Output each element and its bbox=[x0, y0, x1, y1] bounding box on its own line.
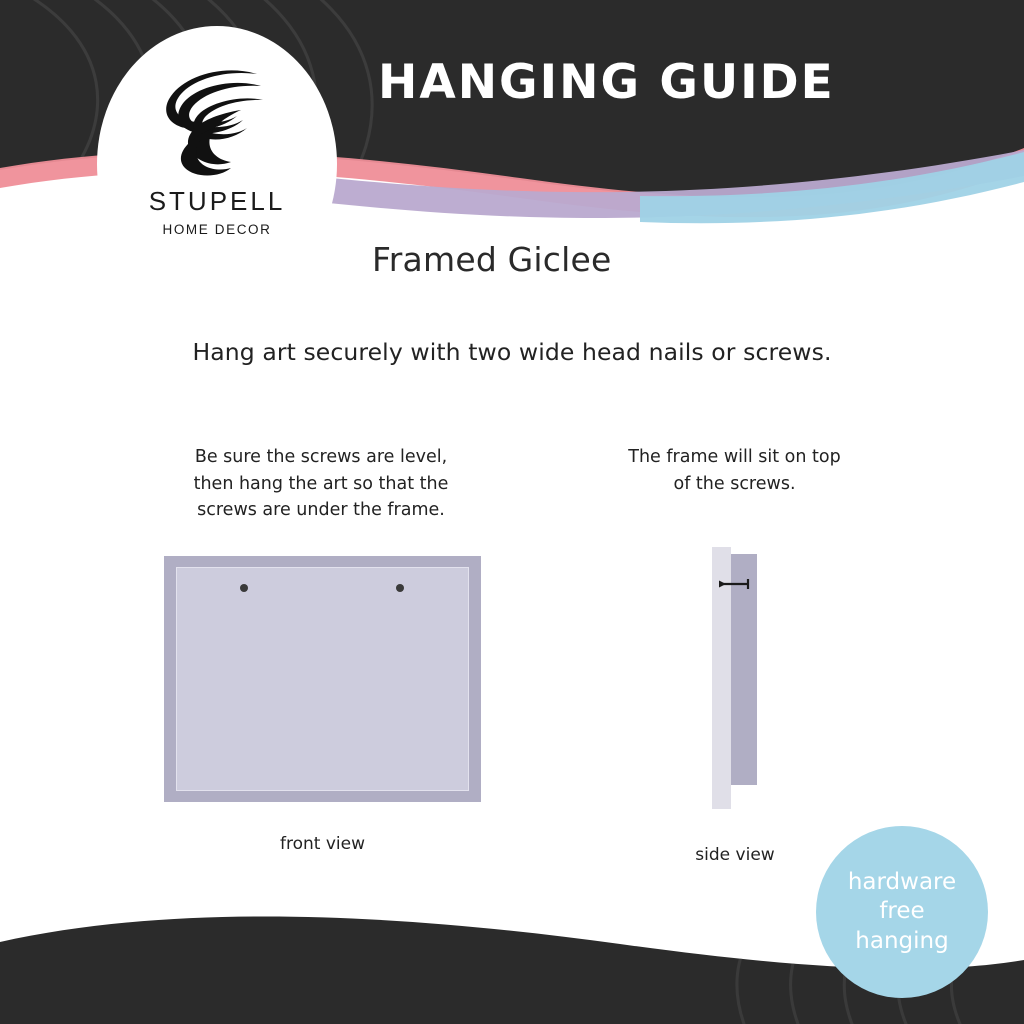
side-view-caption: The frame will sit on top of the screws. bbox=[592, 444, 877, 497]
hardware-free-hanging-badge: hardware free hanging bbox=[816, 826, 988, 998]
product-type-label: Framed Giclee bbox=[372, 240, 612, 279]
badge-line-1: hardware bbox=[848, 868, 956, 897]
side-view-label: side view bbox=[620, 845, 850, 865]
screw-arrow-icon bbox=[700, 570, 780, 610]
front-view-caption: Be sure the screws are level, then hang … bbox=[165, 444, 477, 524]
badge-line-3: hanging bbox=[848, 927, 956, 956]
stupell-swoosh-logo-icon bbox=[157, 64, 277, 182]
brand-logo-badge: STUPELL HOME DECOR bbox=[97, 26, 337, 302]
screw-icon-right bbox=[396, 584, 404, 592]
badge-line-2: free bbox=[848, 897, 956, 926]
side-view-caption-line-2: of the screws. bbox=[592, 471, 877, 498]
brand-name: STUPELL bbox=[149, 186, 286, 217]
hardware-free-hanging-badge-text: hardware free hanging bbox=[848, 868, 956, 956]
hanging-guide-page: STUPELL HOME DECOR HANGING GUIDE Framed … bbox=[0, 0, 1024, 1024]
side-view-caption-line-1: The frame will sit on top bbox=[592, 444, 877, 471]
main-instruction: Hang art securely with two wide head nai… bbox=[0, 338, 1024, 366]
front-view-caption-line-3: screws are under the frame. bbox=[165, 497, 477, 524]
brand-subtitle: HOME DECOR bbox=[162, 222, 271, 237]
front-view-caption-line-2: then hang the art so that the bbox=[165, 471, 477, 498]
front-view-caption-line-1: Be sure the screws are level, bbox=[165, 444, 477, 471]
front-view-frame-diagram bbox=[164, 556, 481, 802]
screw-icon-left bbox=[240, 584, 248, 592]
page-title: HANGING GUIDE bbox=[378, 55, 835, 110]
front-view-label: front view bbox=[164, 834, 481, 854]
front-view-frame-inner bbox=[176, 567, 469, 791]
